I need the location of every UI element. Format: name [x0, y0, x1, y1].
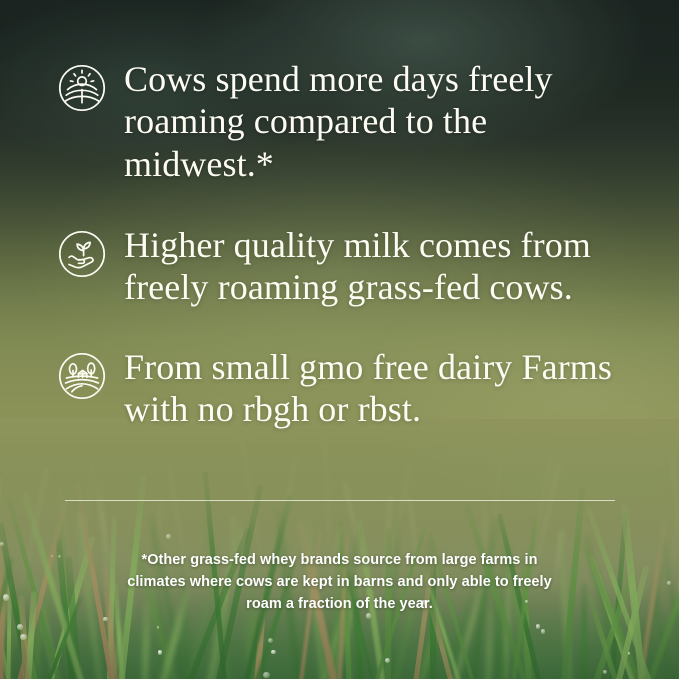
feature-item-2: Higher quality milk comes from freely ro… — [58, 224, 645, 309]
footnote-text: *Other grass-fed whey brands source from… — [125, 549, 555, 615]
feature-item-1: Cows spend more days freely roaming comp… — [58, 58, 645, 185]
sun-over-field-icon — [58, 64, 106, 112]
content-layer: Cows spend more days freely roaming comp… — [0, 0, 679, 679]
section-divider — [65, 500, 615, 501]
feature-text-2: Higher quality milk comes from freely ro… — [124, 224, 645, 309]
feature-text-3: From small gmo free dairy Farms with no … — [124, 346, 645, 431]
feature-item-3: From small gmo free dairy Farms with no … — [58, 346, 645, 431]
feature-text-1: Cows spend more days freely roaming comp… — [124, 58, 645, 185]
hand-holding-plant-icon — [58, 230, 106, 278]
farm-with-trees-icon — [58, 352, 106, 400]
product-benefits-graphic: Cows spend more days freely roaming comp… — [0, 0, 679, 679]
